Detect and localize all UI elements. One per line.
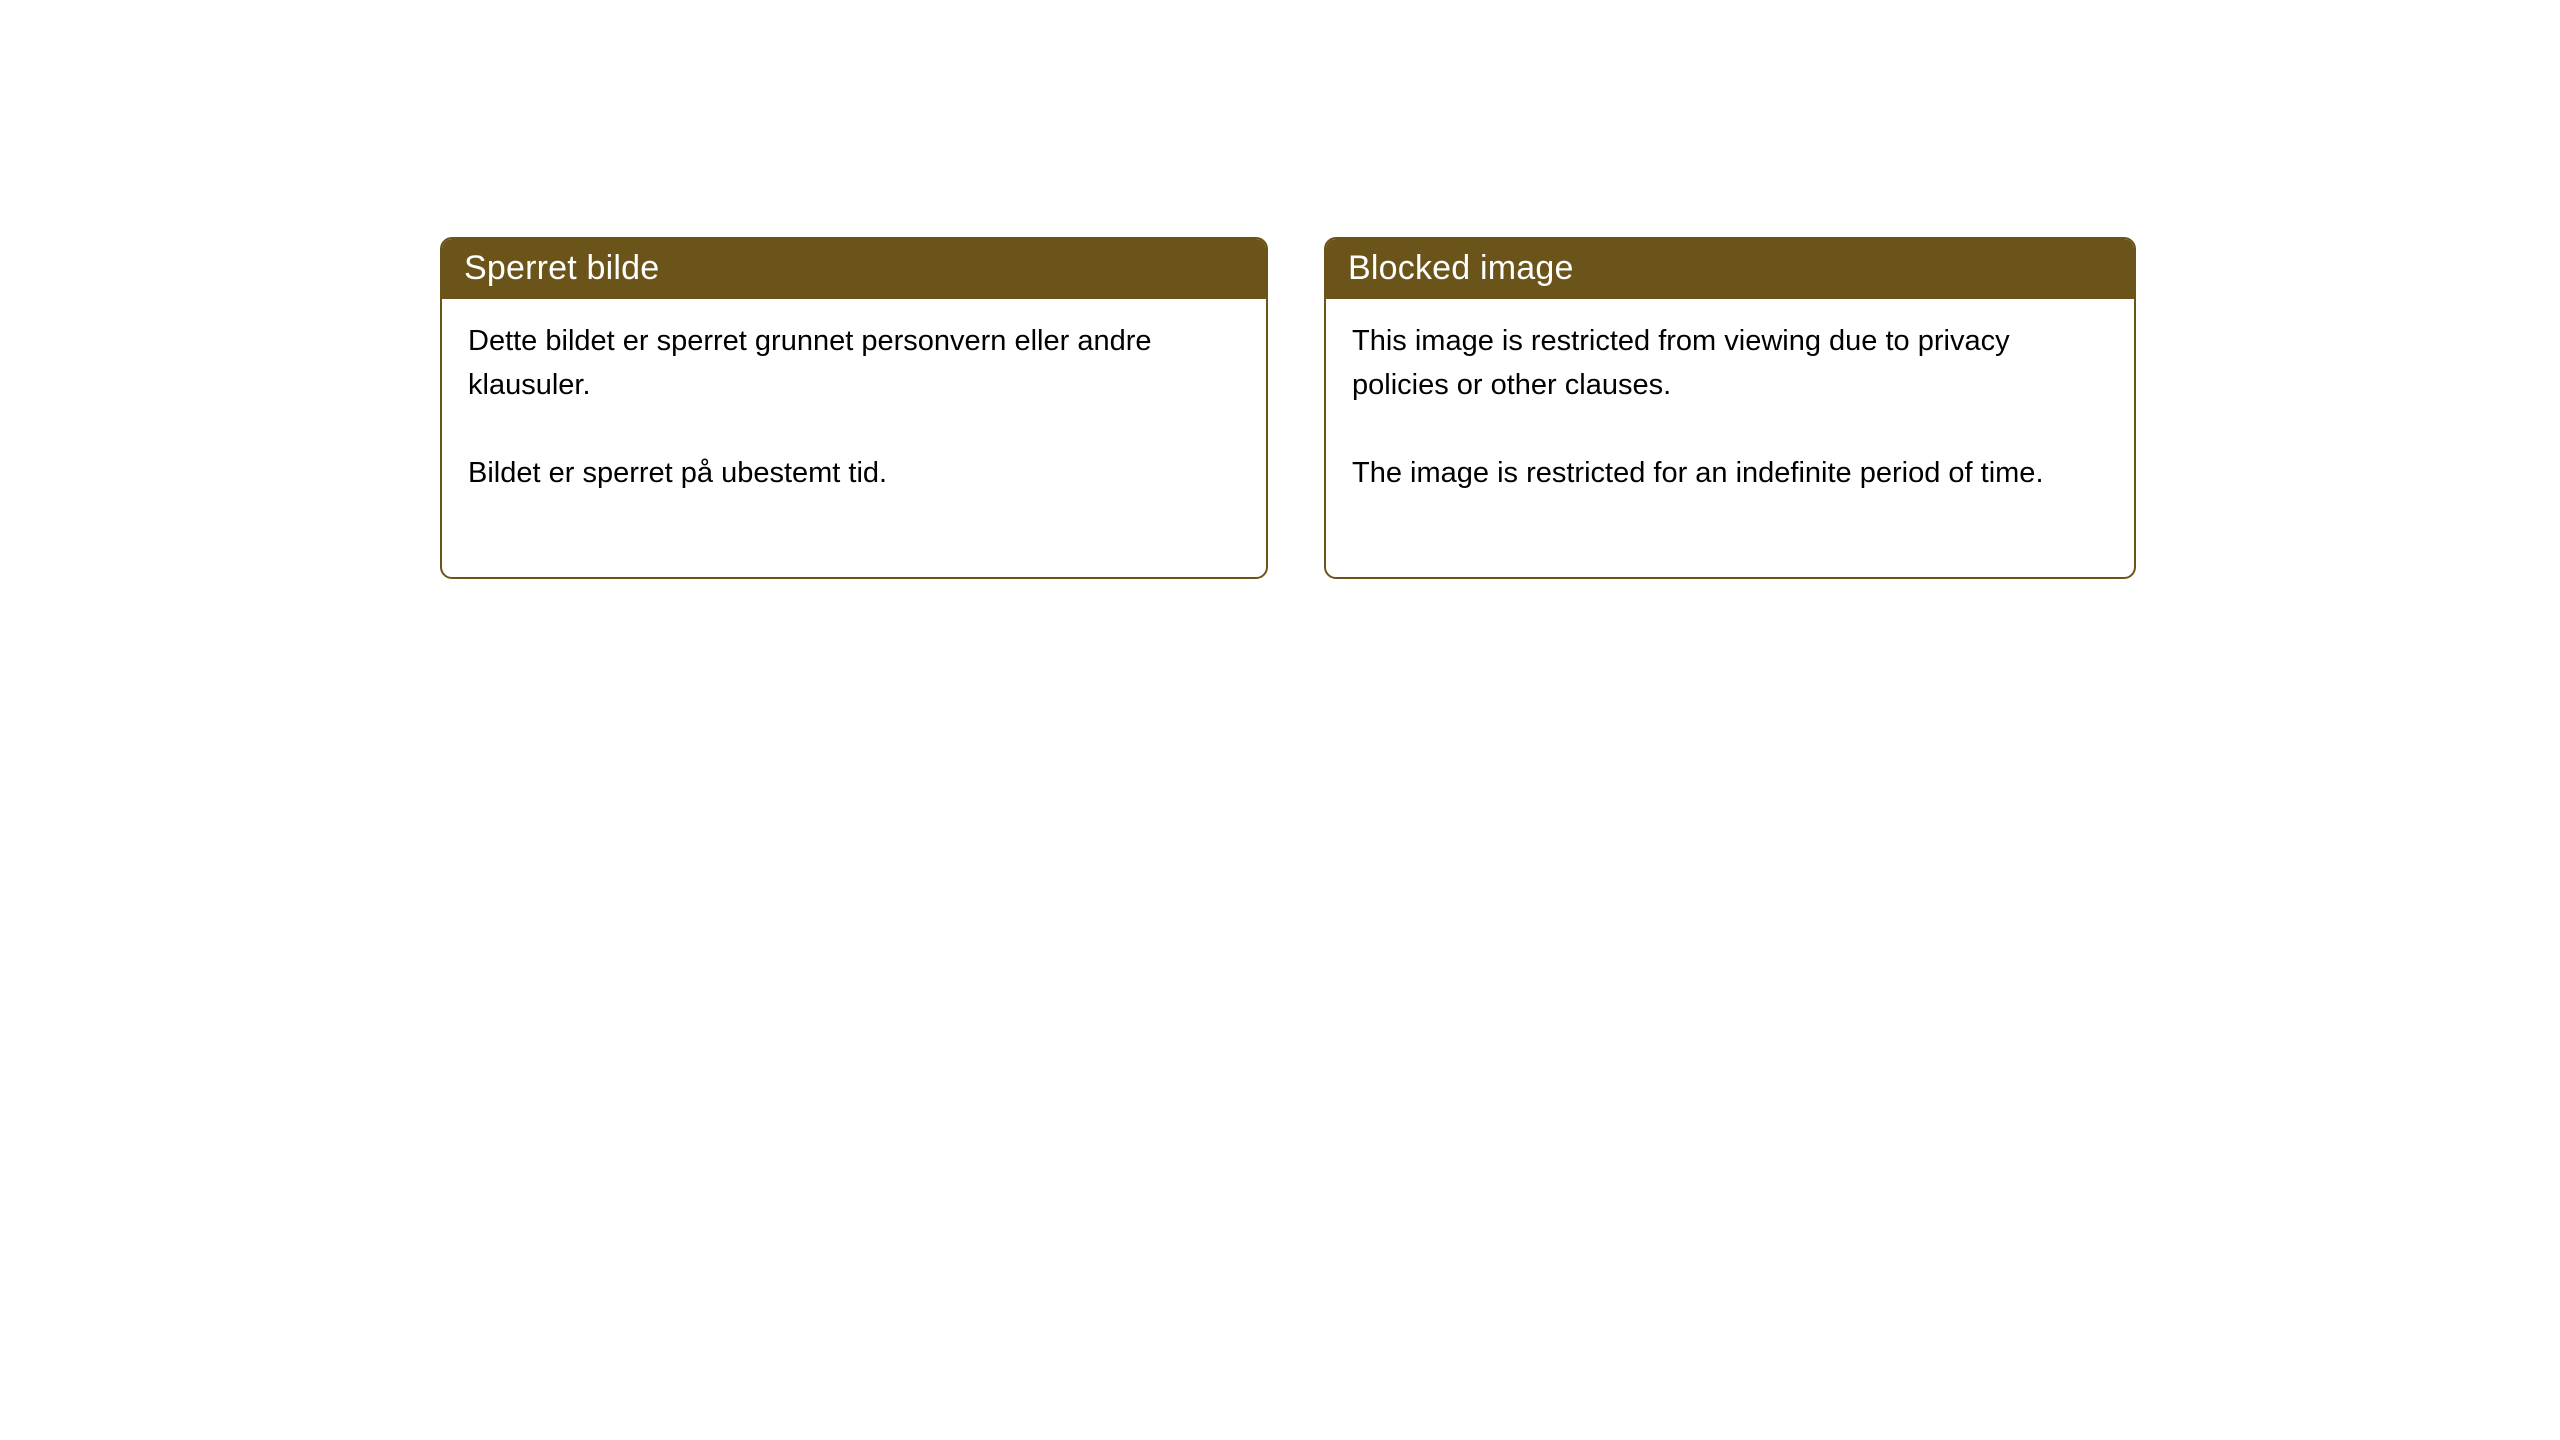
card-paragraph-secondary-norwegian: Bildet er sperret på ubestemt tid. [468,451,1236,495]
card-body-norwegian: Dette bildet er sperret grunnet personve… [442,299,1266,495]
card-paragraph-secondary-english: The image is restricted for an indefinit… [1352,451,2104,495]
card-body-english: This image is restricted from viewing du… [1326,299,2134,495]
page-canvas: Sperret bilde Dette bildet er sperret gr… [0,0,2560,1440]
card-paragraph-primary-norwegian: Dette bildet er sperret grunnet personve… [468,319,1236,407]
card-header-english: Blocked image [1324,237,2136,299]
blocked-image-notice-norwegian: Sperret bilde Dette bildet er sperret gr… [440,237,1268,579]
card-paragraph-primary-english: This image is restricted from viewing du… [1352,319,2104,407]
card-header-norwegian: Sperret bilde [440,237,1268,299]
blocked-image-notice-english: Blocked image This image is restricted f… [1324,237,2136,579]
card-title-norwegian: Sperret bilde [464,251,659,285]
card-title-english: Blocked image [1348,251,1574,285]
